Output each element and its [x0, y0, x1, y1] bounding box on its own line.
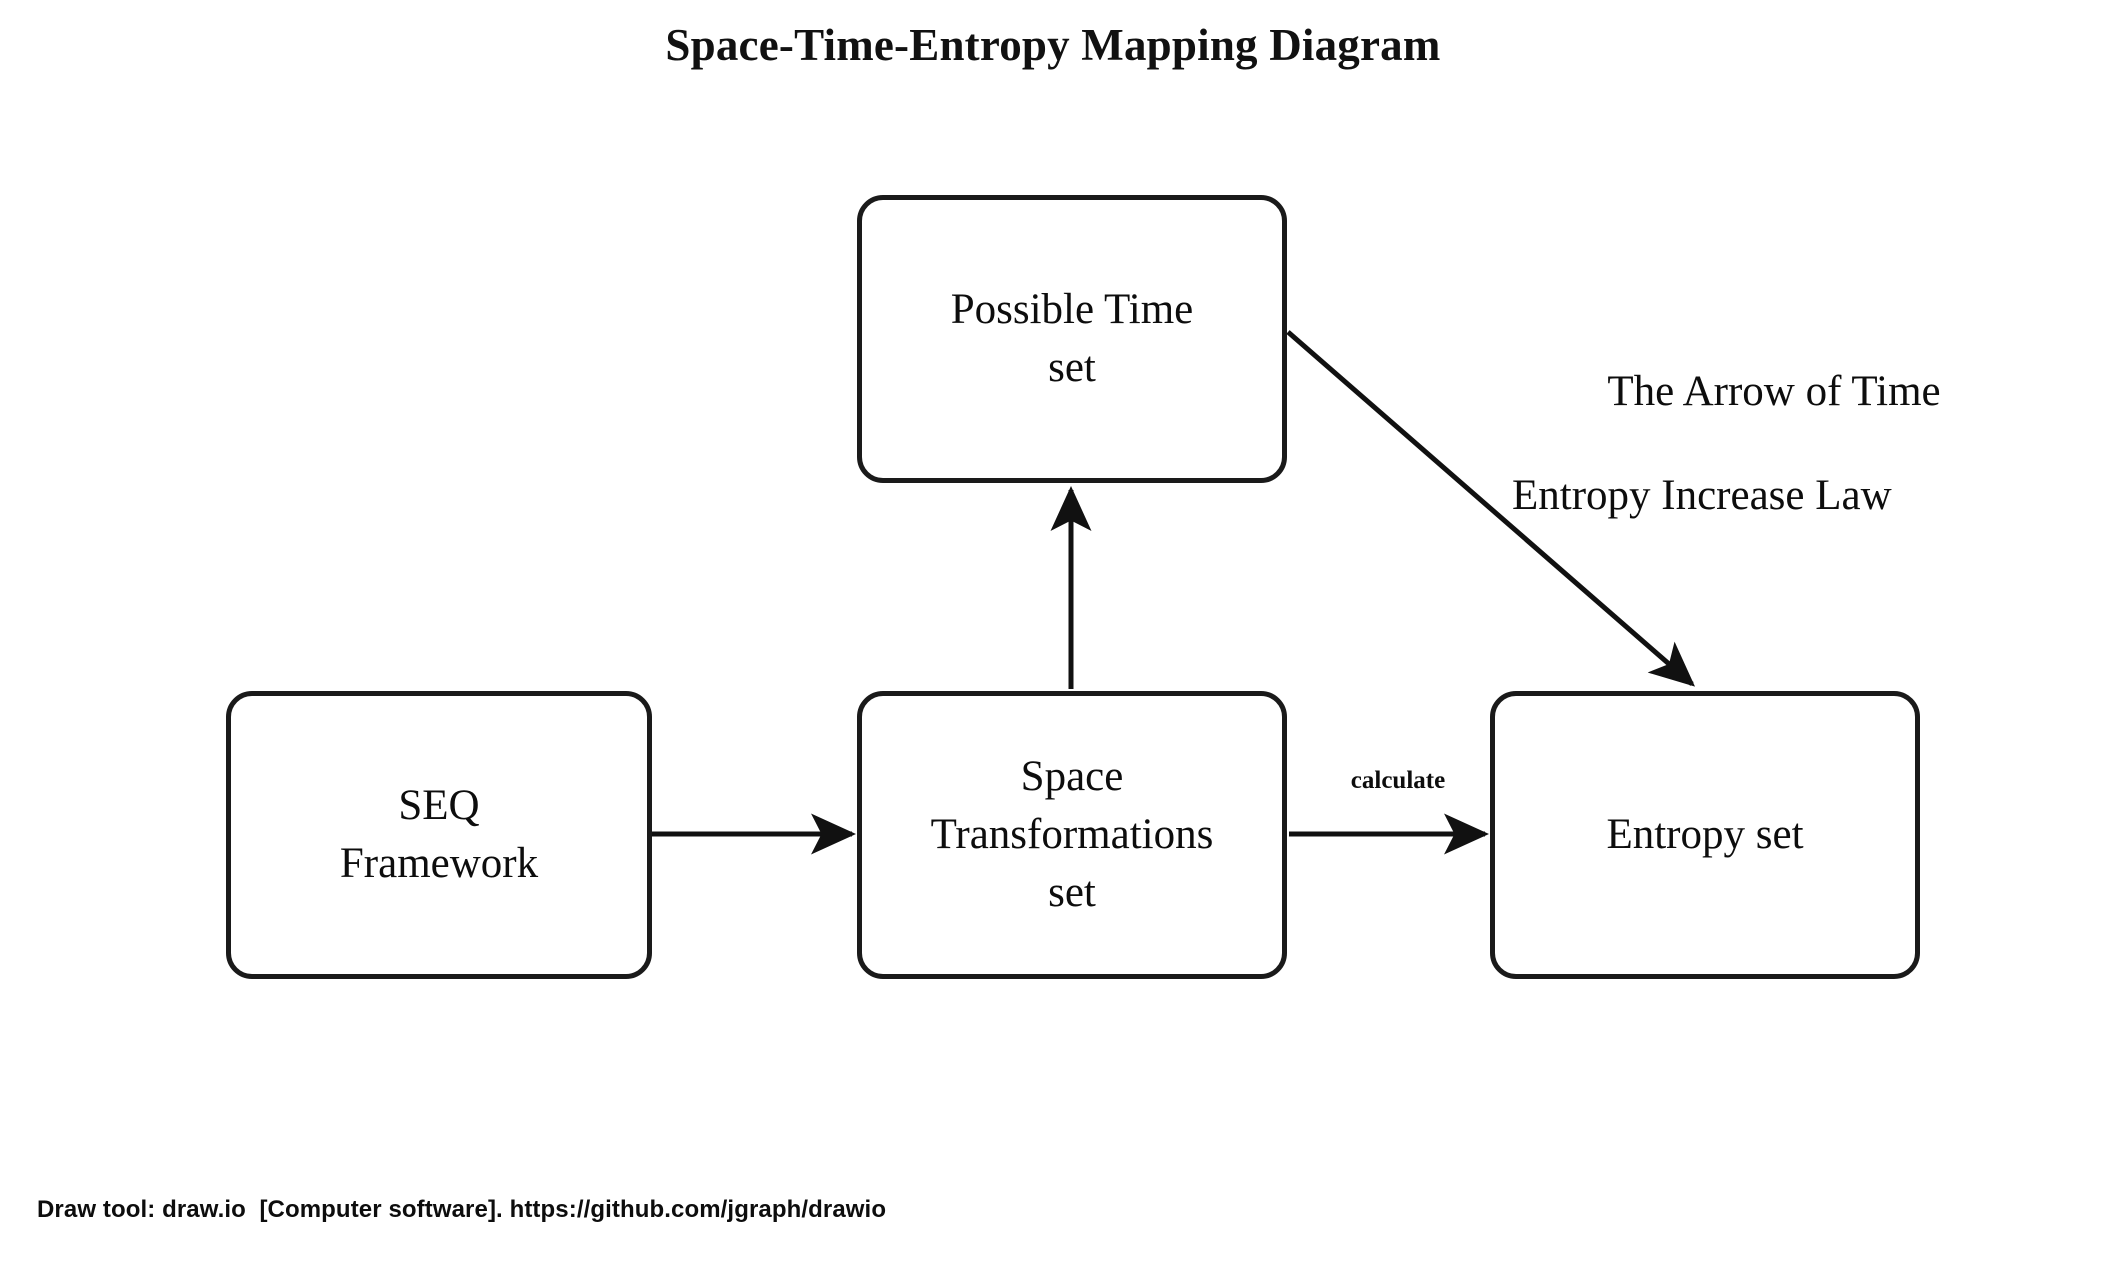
node-label-line: Possible Time — [951, 281, 1194, 339]
node-entropy-set-label: Entropy set — [1606, 806, 1803, 864]
edges-layer — [0, 0, 2106, 1277]
node-space-transformations-set[interactable]: Space Transformations set — [857, 691, 1287, 979]
node-label-line: set — [862, 864, 1282, 922]
node-entropy-set[interactable]: Entropy set — [1490, 691, 1920, 979]
node-label-line: set — [951, 339, 1194, 397]
node-label-line: Transformations — [862, 806, 1282, 864]
node-possible-time-set[interactable]: Possible Time set — [857, 195, 1287, 483]
annotation-arrow-of-time: The Arrow of Time Entropy Increase Law — [1512, 340, 2102, 548]
node-seq-framework-label: SEQ Framework — [340, 777, 538, 893]
annotation-line: The Arrow of Time — [1512, 340, 2102, 444]
footer-credit: Draw tool: draw.io [Computer software]. … — [37, 1194, 886, 1226]
node-label-line: Space — [862, 748, 1282, 806]
node-space-transformations-set-label: Space Transformations set — [862, 748, 1282, 922]
node-label-line: Entropy set — [1606, 806, 1803, 864]
node-label-line: SEQ — [340, 777, 538, 835]
node-seq-framework[interactable]: SEQ Framework — [226, 691, 652, 979]
page-title: Space-Time-Entropy Mapping Diagram — [0, 18, 2106, 72]
node-label-line: Framework — [340, 835, 538, 893]
annotation-line: Entropy Increase Law — [1512, 444, 2102, 548]
edge-label-calculate: calculate — [1306, 766, 1490, 796]
node-possible-time-set-label: Possible Time set — [951, 281, 1194, 397]
diagram-canvas: Space-Time-Entropy Mapping Diagram SEQ F… — [0, 0, 2106, 1277]
